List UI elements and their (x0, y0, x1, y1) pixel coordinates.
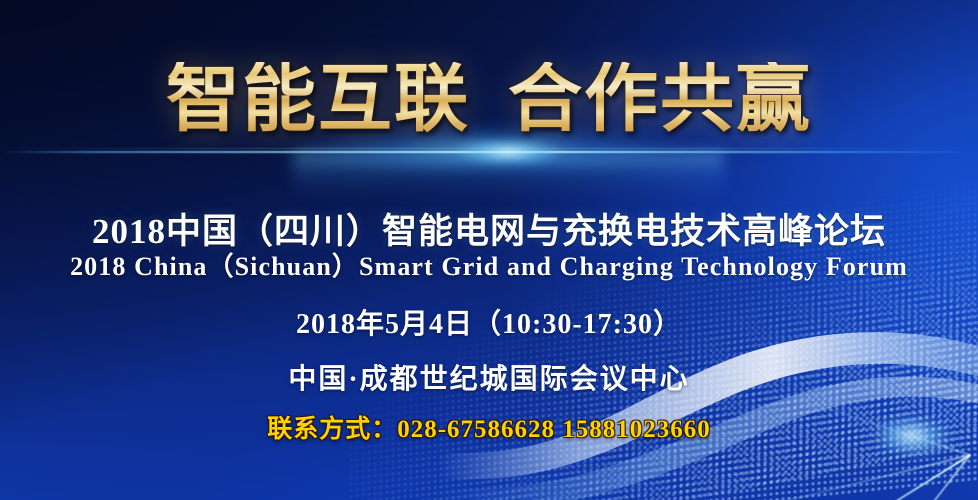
headline-part-1: 智能互联 (166, 56, 470, 142)
light-beam-icon (0, 128, 978, 188)
forum-title-english: 2018 China（Sichuan）Smart Grid and Chargi… (0, 253, 978, 282)
forum-title-chinese: 2018中国（四川）智能电网与充换电技术高峰论坛 (0, 213, 978, 250)
contact-line: 联系方式：028-67586628 15881023660 (0, 409, 978, 445)
contact-phone-numbers: 028-67586628 15881023660 (397, 416, 711, 443)
headline-slogan: 智能互联合作共赢 (0, 62, 978, 136)
conference-poster: 智能互联合作共赢 2018中国（四川）智能电网与充换电技术高峰论坛 2018 C… (0, 0, 978, 500)
headline-part-2: 合作共赢 (508, 56, 812, 142)
event-date: 2018年5月4日（10:30-17:30） (0, 302, 978, 342)
contact-label: 联系方式： (267, 416, 397, 443)
event-venue: 中国·成都世纪城国际会议中心 (0, 357, 978, 397)
